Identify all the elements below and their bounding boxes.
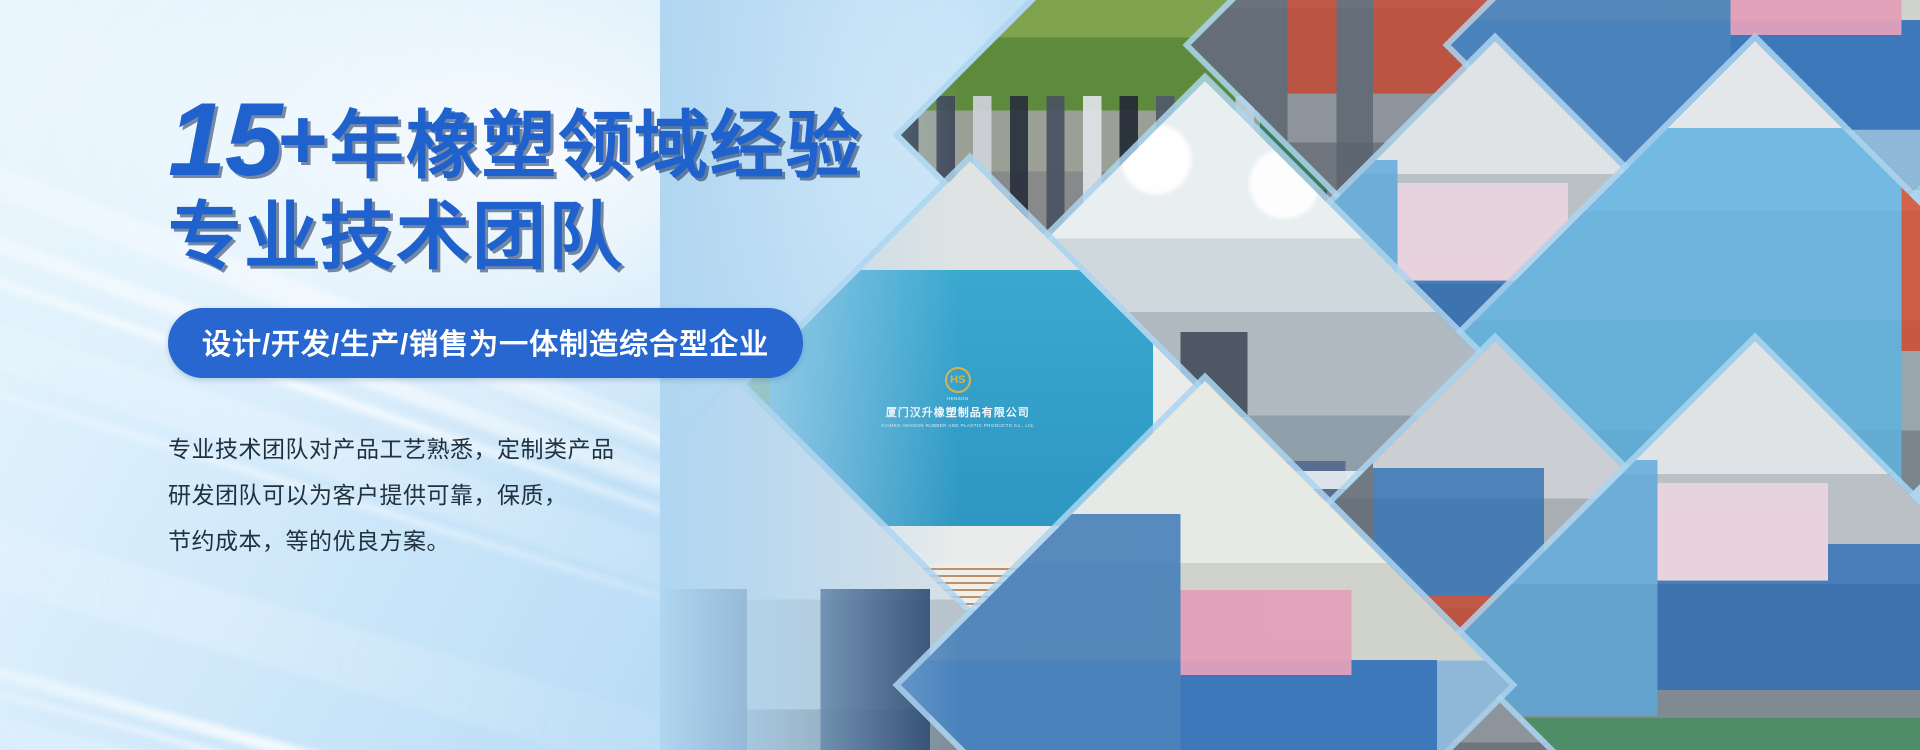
company-name-cn: 厦门汉升橡塑制品有限公司 — [886, 404, 1030, 420]
plus-sign: + — [278, 92, 328, 188]
headline-line-1-text: 年橡塑领域经验 — [330, 104, 862, 187]
description-line-3: 节约成本，等的优良方案。 — [168, 518, 808, 564]
company-name-en: XIAMEN HENSON RUBBER AND PLASTIC PRODUCT… — [881, 423, 1034, 428]
description-line-1: 专业技术团队对产品工艺熟悉，定制类产品 — [168, 426, 808, 472]
headline-line-1: 15+年橡塑领域经验 — [168, 88, 808, 192]
years-number: 15 — [168, 82, 282, 198]
headline-line-2: 专业技术团队 — [168, 200, 808, 274]
tagline-pill: 设计/开发/生产/销售为一体制造综合型企业 — [168, 308, 803, 378]
henson-logo-mark: HS — [945, 367, 971, 393]
headline: 15+年橡塑领域经验 专业技术团队 — [168, 88, 808, 274]
description-line-2: 研发团队可以为客户提供可靠，保质， — [168, 472, 808, 518]
banner-copy: 15+年橡塑领域经验 专业技术团队 设计/开发/生产/销售为一体制造综合型企业 … — [168, 88, 808, 564]
description-paragraph: 专业技术团队对产品工艺熟悉，定制类产品 研发团队可以为客户提供可靠，保质， 节约… — [168, 426, 808, 564]
promo-banner: HS HENSON 厦门汉升橡塑制品有限公司 XIAMEN HENSON RUB… — [0, 0, 1920, 750]
henson-logo-sub: HENSON — [947, 396, 969, 401]
